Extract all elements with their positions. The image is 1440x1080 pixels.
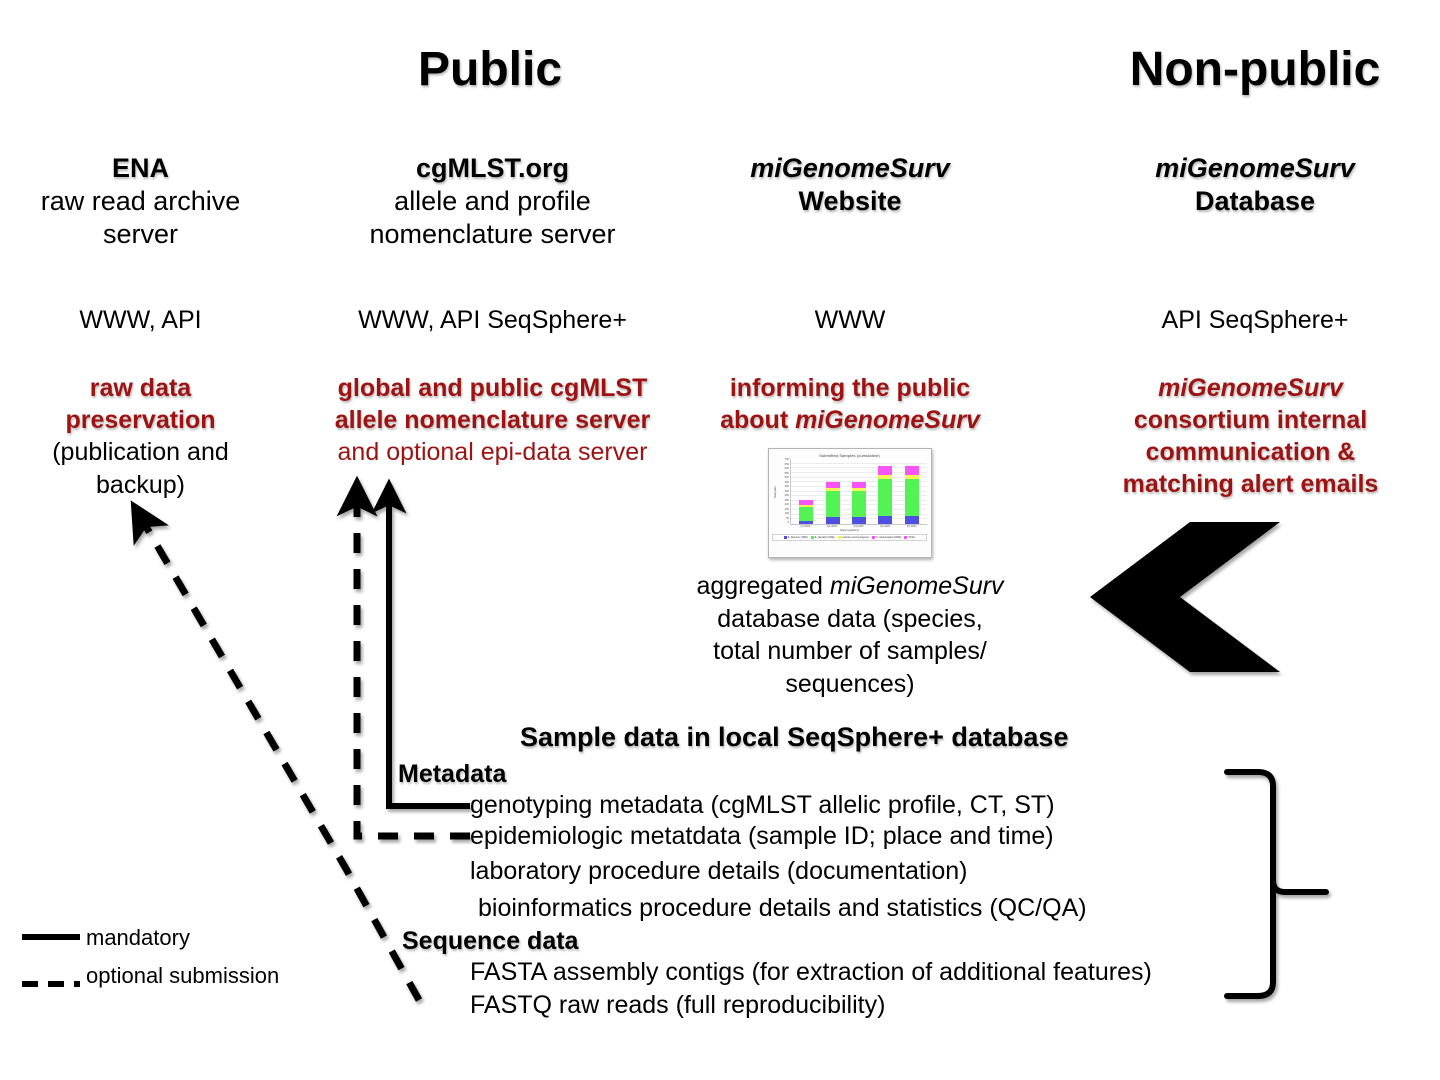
list-item-fasta-contigs: FASTA assembly contigs (for extraction o… (470, 960, 1152, 985)
list-item-genotyping-metadata: genotyping metadata (cgMLST allelic prof… (470, 793, 1055, 818)
chart-y-tick: 300 (785, 495, 789, 498)
chart-x-tick: Q2 2020 (825, 525, 839, 528)
chart-legend-item: STEC (904, 536, 915, 539)
local-database-heading: Sample data in local SeqSphere+ database (520, 722, 1068, 753)
chart-legend: E. faecium (VRE)E. faecalis (VRE)Listeri… (772, 534, 927, 541)
chart-legend-label: STEC (908, 536, 915, 539)
chevron-database-to-website (1090, 522, 1280, 672)
aggregated-note-line1-italic: miGenomeSurv (830, 572, 1004, 600)
column-website-purpose-line2-prefix: about (720, 406, 795, 434)
chart-bar (826, 482, 840, 524)
chart-y-tick: 200 (785, 504, 789, 507)
legend-label-optional: optional submission (86, 963, 279, 989)
chart-y-axis: 7006506005505004504003503002502001501005… (778, 459, 790, 525)
column-website-purpose: informing the public about miGenomeSurv (675, 372, 1025, 436)
column-database-title: miGenomeSurv (1085, 152, 1425, 185)
chart-x-tick: Q1 2021 (905, 525, 919, 528)
chart-plot-area: Samples 70065060055050045040035030025020… (772, 459, 927, 525)
section-title-nonpublic: Non-public (1075, 45, 1435, 95)
aggregated-data-note: aggregated miGenomeSurv database data (s… (660, 570, 1040, 700)
chart-x-tick: Q4 2020 (878, 525, 892, 528)
chart-y-tick: 550 (785, 473, 789, 476)
column-cgmlst-title: cgMLST.org (300, 152, 685, 185)
chart-bar-segment (905, 466, 919, 475)
column-database-subtitle: Database (1085, 185, 1425, 218)
column-database: miGenomeSurv Database (1085, 152, 1425, 218)
column-cgmlst-purpose-line2: allele nomenclature server (290, 404, 695, 436)
chart-bar (799, 500, 813, 524)
column-cgmlst: cgMLST.org allele and profile nomenclatu… (300, 152, 685, 251)
list-item-laboratory-procedure: laboratory procedure details (documentat… (470, 859, 968, 884)
chart-legend-item: E. faecalis (VRE) (811, 536, 835, 539)
chart-y-tick: 50 (786, 518, 789, 521)
column-cgmlst-purpose-line3: and optional epi-data server (290, 436, 695, 469)
chart-y-tick: 350 (785, 491, 789, 494)
column-database-purpose: miGenomeSurv consortium internal communi… (1068, 372, 1433, 500)
chart-y-tick: 400 (785, 486, 789, 489)
chart-legend-label: Listeria monocytogenes (842, 536, 869, 539)
chart-bar (878, 466, 892, 524)
chart-y-tick: 650 (785, 464, 789, 467)
chart-legend-swatch (811, 536, 814, 539)
chart-y-tick: 100 (785, 513, 789, 516)
column-website: miGenomeSurv Website (690, 152, 1010, 218)
chart-bar-segment (905, 479, 919, 516)
column-website-title: miGenomeSurv (690, 152, 1010, 185)
column-cgmlst-purpose-line1: global and public cgMLST (290, 372, 695, 404)
chart-bar (905, 466, 919, 524)
chart-xlabel: Date (quarter) (772, 528, 927, 532)
chart-bar-segment (905, 516, 919, 524)
section-title-public: Public (290, 45, 690, 95)
column-database-purpose-line2: consortium internal (1068, 404, 1433, 436)
column-ena: ENA raw read archive server (18, 152, 263, 251)
chart-bar-segment (878, 516, 892, 524)
column-database-purpose-line1: miGenomeSurv (1068, 372, 1433, 404)
chart-bar (852, 482, 866, 524)
chart-y-tick: 150 (785, 509, 789, 512)
chart-legend-swatch (904, 536, 907, 539)
column-cgmlst-purpose: global and public cgMLST allele nomencla… (290, 372, 695, 469)
chart-bar-segment (799, 521, 813, 524)
group-heading-metadata: Metadata (398, 760, 506, 789)
chart-bars (790, 459, 927, 525)
chart-bar-segment (826, 491, 840, 517)
chart-legend-item: Listeria monocytogenes (838, 536, 869, 539)
column-ena-subtitle-line2: server (18, 218, 263, 251)
column-ena-purpose-line4: backup) (8, 469, 273, 502)
column-ena-purpose-line2: preservation (8, 404, 273, 436)
column-database-purpose-line3: communication & (1068, 436, 1433, 468)
chart-legend-label: E. faecium (VRE) (788, 536, 808, 539)
column-website-purpose-line1: informing the public (675, 372, 1025, 404)
chart-bar-segment (799, 507, 813, 521)
aggregated-note-line1: aggregated miGenomeSurv (660, 570, 1040, 603)
column-ena-purpose-line3: (publication and (8, 436, 273, 469)
aggregated-note-line4: sequences) (660, 668, 1040, 701)
column-cgmlst-subtitle-line2: nomenclature server (300, 218, 685, 251)
column-website-subtitle: Website (690, 185, 1010, 218)
chart-legend-swatch (838, 536, 841, 539)
chart-bar-segment (878, 479, 892, 516)
chart-y-tick: 0 (788, 522, 789, 525)
column-ena-protocols: WWW, API (18, 305, 263, 335)
column-website-purpose-line2: about miGenomeSurv (675, 404, 1025, 436)
chart-legend-swatch (784, 536, 787, 539)
right-grouping-brace (1227, 772, 1326, 996)
column-ena-subtitle-line1: raw read archive (18, 185, 263, 218)
chart-legend-label: E. faecalis (VRE) (815, 536, 835, 539)
chart-x-tick: Q1 2020 (798, 525, 812, 528)
chart-bar-segment (826, 517, 840, 524)
column-cgmlst-protocols: WWW, API SeqSphere+ (300, 305, 685, 335)
chart-legend-item: E. faecium (VRE) (784, 536, 808, 539)
aggregated-note-line3: total number of samples/ (660, 635, 1040, 668)
chart-bar-segment (852, 491, 866, 517)
chart-gridline (791, 463, 927, 464)
chart-legend-label: S. tuberculosis (MDR) (876, 536, 901, 539)
chart-legend-swatch (872, 536, 875, 539)
list-item-epidemiologic-metadata: epidemiologic metatdata (sample ID; plac… (470, 824, 1054, 849)
chart-y-tick: 450 (785, 482, 789, 485)
chart-bar-segment (878, 466, 892, 475)
list-item-fastq-raw-reads: FASTQ raw reads (full reproducibility) (470, 993, 885, 1018)
chart-bar-segment (852, 517, 866, 524)
chart-title: Submitted Samples (cumulative) (772, 452, 927, 459)
column-website-protocols: WWW (690, 305, 1010, 335)
submitted-samples-chart-thumbnail[interactable]: Submitted Samples (cumulative) Samples 7… (768, 448, 932, 558)
column-cgmlst-subtitle-line1: allele and profile (300, 185, 685, 218)
column-database-protocols: API SeqSphere+ (1085, 305, 1425, 335)
chart-y-tick: 500 (785, 477, 789, 480)
column-ena-title: ENA (18, 152, 263, 185)
chart-y-tick: 600 (785, 468, 789, 471)
column-database-purpose-line4: matching alert emails (1068, 468, 1433, 500)
aggregated-note-line2: database data (species, (660, 603, 1040, 636)
chart-y-tick: 700 (785, 459, 789, 462)
column-website-purpose-line2-italic: miGenomeSurv (795, 406, 980, 434)
group-heading-sequence-data: Sequence data (402, 927, 578, 956)
aggregated-note-line1-prefix: aggregated (696, 572, 829, 600)
column-ena-purpose: raw data preservation (publication and b… (8, 372, 273, 501)
chart-y-tick: 250 (785, 500, 789, 503)
chart-legend-item: S. tuberculosis (MDR) (872, 536, 901, 539)
legend-label-mandatory: mandatory (86, 925, 190, 951)
chart-ylabel: Samples (772, 459, 778, 525)
list-item-bioinformatics-procedure: bioinformatics procedure details and sta… (478, 896, 1087, 921)
column-ena-purpose-line1: raw data (8, 372, 273, 404)
